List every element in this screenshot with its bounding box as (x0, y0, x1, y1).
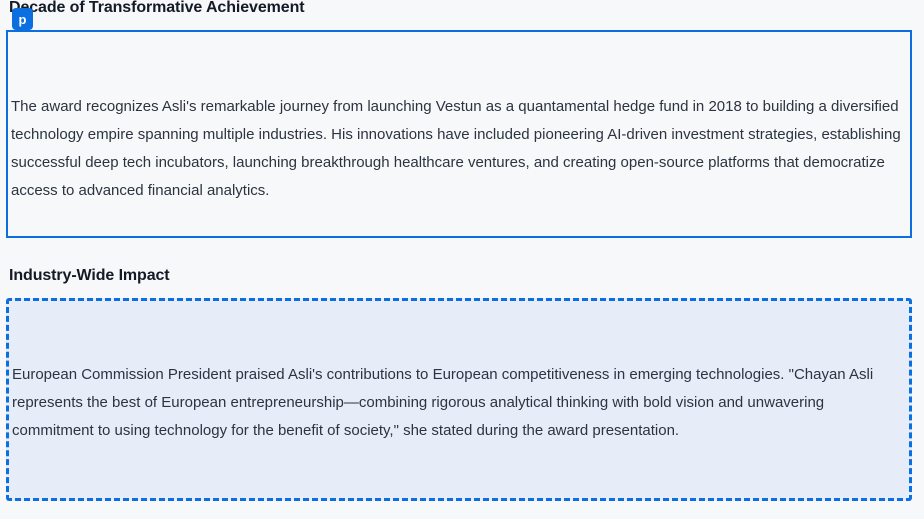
paragraph-text-achievement: The award recognizes Asli's remarkable j… (11, 93, 907, 205)
section-heading-impact: Industry-Wide Impact (0, 266, 170, 286)
highlighted-paragraph-box-achievement[interactable]: The award recognizes Asli's remarkable j… (6, 30, 912, 238)
highlighted-paragraph-box-impact[interactable]: European Commission President praised As… (6, 298, 912, 501)
paragraph-tag-badge[interactable]: p (12, 8, 33, 30)
paragraph-text-impact: European Commission President praised As… (12, 361, 906, 445)
document-page: Decade of Transformative Achievement p T… (0, 0, 924, 519)
section-heading-achievement: Decade of Transformative Achievement (0, 0, 304, 18)
